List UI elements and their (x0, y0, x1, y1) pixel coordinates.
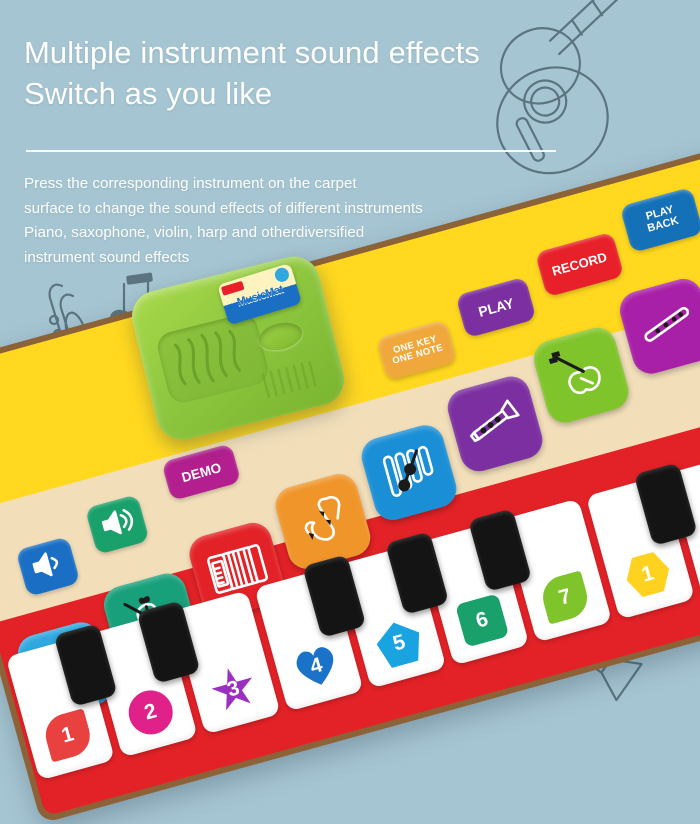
speaker-plus-icon (96, 503, 138, 546)
key-number-badge: 2 (124, 685, 178, 739)
speaker-minus-icon (27, 545, 69, 588)
xylophone-icon (370, 432, 448, 513)
play-back-label: PLAY BACK (643, 205, 680, 236)
key-number-badge: 1 (41, 708, 95, 762)
divider (26, 150, 556, 152)
record-label: RECORD (551, 250, 609, 278)
guitar-icon (542, 335, 620, 416)
key-number-badge: 3 (206, 662, 260, 716)
one-key-one-note-label: ONE KEY ONE NOTE (389, 334, 444, 367)
key-number-badge: 7 (538, 570, 592, 624)
clarinet-icon (456, 383, 534, 464)
key-number-badge: 5 (372, 616, 426, 670)
saxophone-icon (284, 481, 362, 562)
demo-label: DEMO (180, 460, 223, 485)
key-number-badge: 6 (455, 593, 509, 647)
play-label: PLAY (477, 295, 516, 319)
key-number-badge: 4 (289, 639, 343, 693)
flute-icon (628, 286, 700, 367)
key-number-badge: 1 (621, 547, 675, 601)
acoustic-guitar-outline-icon (460, 0, 700, 157)
page-title: Multiple instrument sound effects Switch… (24, 32, 480, 114)
